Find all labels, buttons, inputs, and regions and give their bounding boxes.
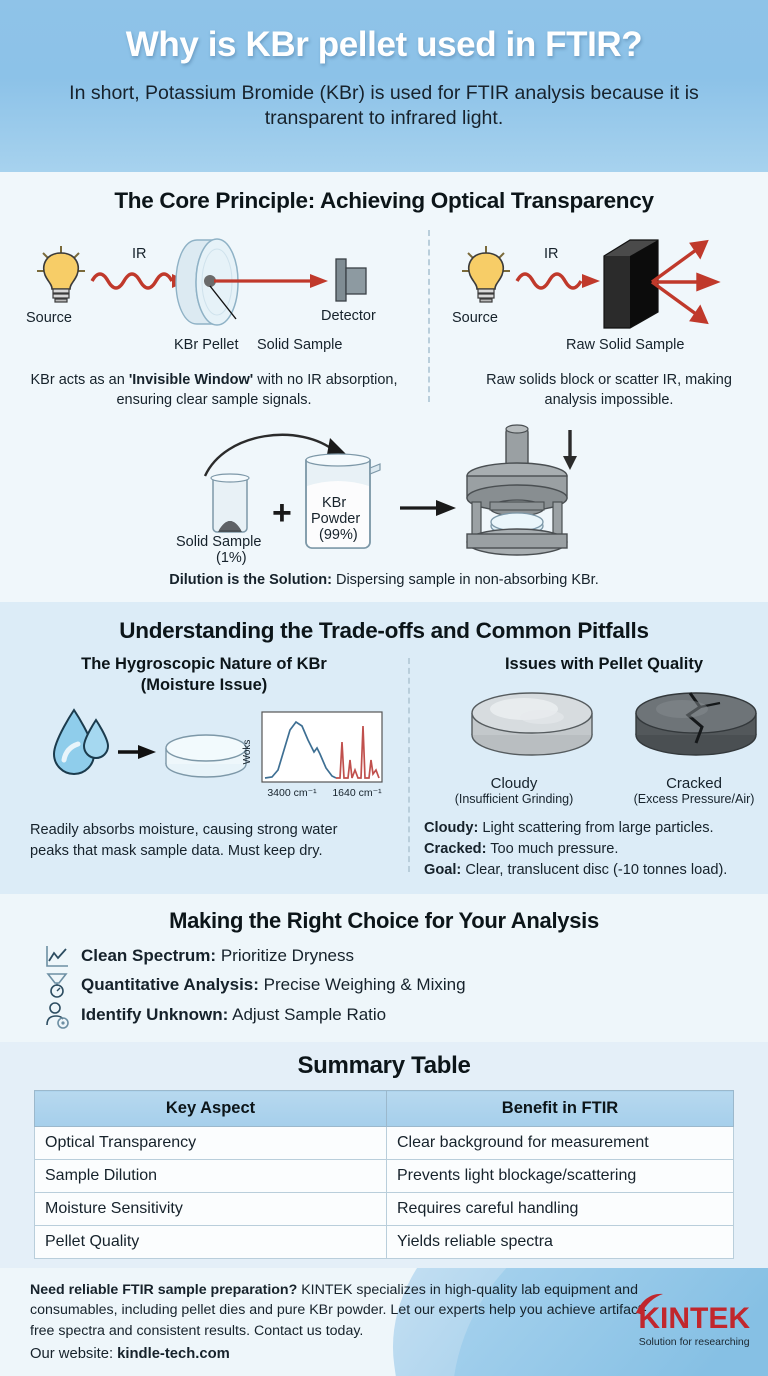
kbr-pellet-diagram-column: Source IR Detector KBr Pellet Solid Samp… [0,226,428,410]
page-title: Why is KBr pellet used in FTIR? [30,26,738,65]
footer-website-url[interactable]: kindle-tech.com [117,1346,230,1362]
tradeoffs-title: Understanding the Trade-offs and Common … [0,618,768,644]
infographic-page: Why is KBr pellet used in FTIR? In short… [0,0,768,1376]
beam-arrow-right [310,274,328,288]
cracked-pellet-icon [636,693,756,755]
plus-symbol: + [272,494,292,532]
footer-website-label: Our website: [30,1346,117,1362]
header-subtitle: In short, Potassium Bromide (KBr) is use… [30,81,738,132]
source-label-left: Source [26,310,72,326]
caption-pre: KBr acts as an [31,372,129,388]
moisture-svg: Woks 3400 cm⁻¹ 1640 cm⁻¹ [14,702,394,802]
table-row: Moisture Sensitivity Requires careful ha… [35,1193,734,1226]
choice-text-clean-spectrum: Clean Spectrum: Prioritize Dryness [81,946,354,966]
table-row: Optical Transparency Clear background fo… [35,1127,734,1160]
core-principle-title: The Core Principle: Achieving Optical Tr… [0,188,768,214]
moisture-subtitle: The Hygroscopic Nature of KBr (Moisture … [14,654,394,696]
logo-swoosh-icon [634,1293,664,1315]
choice-rest-2: Precise Weighing & Mixing [259,975,466,994]
cloudy-sublabel: (Insufficient Grinding) [424,792,604,806]
right-choice-title: Making the Right Choice for Your Analysi… [0,908,768,934]
source-label-right: Source [452,310,498,326]
pellet-quality-labels: Cloudy (Insufficient Grinding) Cracked (… [424,775,768,806]
footer-banner: Need reliable FTIR sample preparation? K… [0,1268,768,1376]
choice-text-quantitative: Quantitative Analysis: Precise Weighing … [81,975,466,995]
choice-bold-3: Identify Unknown: [81,1005,228,1024]
raw-solid-caption: Raw solids block or scatter IR, making a… [444,371,768,410]
ir-label-left: IR [132,246,147,262]
summary-table-section: Summary Table Key Aspect Benefit in FTIR… [0,1042,768,1273]
table-header-benefit: Benefit in FTIR [387,1091,734,1127]
table-header-key-aspect: Key Aspect [35,1091,387,1127]
cracked-label: Cracked [604,775,768,792]
table-cell-benefit: Requires careful handling [387,1193,734,1226]
summary-table-title: Summary Table [0,1052,768,1080]
logo-tagline: Solution for researching [638,1336,750,1348]
table-row: Pellet Quality Yields reliable spectra [35,1226,734,1259]
raw-solid-diagram: Source IR [444,226,768,341]
scale-balance-icon [44,971,70,999]
summary-table: Key Aspect Benefit in FTIR Optical Trans… [34,1090,734,1259]
moisture-pellet-disc [166,735,246,777]
ir-wave-left [92,274,172,288]
solid-sample-beaker-label: Solid Sample [176,534,261,550]
scatter-arrows [652,242,716,322]
cloudy-pellet-icon [472,693,592,755]
chart-tick-1640: 1640 cm⁻¹ [332,787,382,799]
note-cloudy: Cloudy: Light scattering from large part… [424,818,768,839]
water-peaks-chart: Woks 3400 cm⁻¹ 1640 cm⁻¹ [242,712,382,799]
pellet-quality-illustration [424,681,768,773]
note-cracked-bold: Cracked: [424,841,486,857]
tradeoffs-columns: The Hygroscopic Nature of KBr (Moisture … [0,654,768,880]
cloudy-label: Cloudy [424,775,604,792]
table-cell-benefit: Clear background for measurement [387,1127,734,1160]
ir-arrow-right [582,274,600,288]
table-cell-aspect: Pellet Quality [35,1226,387,1259]
line-chart-icon [44,943,70,969]
chart-tick-3400: 3400 cm⁻¹ [267,787,317,799]
note-goal-rest: Clear, translucent disc (-10 tonnes load… [461,862,727,878]
pellet-press-icon [467,425,577,555]
caption-bold: 'Invisible Window' [129,372,253,388]
note-cracked: Cracked: Too much pressure. [424,839,768,860]
core-principle-columns: Source IR Detector KBr Pellet Solid Samp… [0,226,768,410]
choice-rest-3: Adjust Sample Ratio [228,1005,386,1024]
footer-cta-text: Need reliable FTIR sample preparation? K… [30,1280,650,1341]
solid-sample-beaker [211,474,249,532]
dilution-caption-bold: Dilution is the Solution: [169,572,332,588]
dilution-svg: + [0,416,768,556]
choice-item-quantitative: Quantitative Analysis: Precise Weighing … [0,970,768,1000]
core-principle-section: The Core Principle: Achieving Optical Tr… [0,172,768,602]
moisture-column: The Hygroscopic Nature of KBr (Moisture … [0,654,408,880]
detector-icon [336,259,366,301]
table-cell-benefit: Yields reliable spectra [387,1226,734,1259]
moisture-subtitle-line1: The Hygroscopic Nature of KBr [14,654,394,675]
choice-rest-1: Prioritize Dryness [216,946,354,965]
raw-solid-diagram-column: Source IR Raw Solid Sample Raw solids bl… [430,226,768,410]
light-bulb-icon-right [462,246,510,302]
choice-item-identify-unknown: Identify Unknown: Adjust Sample Ratio [0,1000,768,1030]
moisture-subtitle-line2: (Moisture Issue) [14,675,394,696]
tradeoffs-section: Understanding the Trade-offs and Common … [0,602,768,894]
note-cloudy-rest: Light scattering from large particles. [478,820,713,836]
table-cell-aspect: Optical Transparency [35,1127,387,1160]
ir-label-right: IR [544,246,559,262]
table-row: Sample Dilution Prevents light blockage/… [35,1160,734,1193]
dilution-caption: Dilution is the Solution: Dispersing sam… [0,572,768,588]
note-goal: Goal: Clear, translucent disc (-10 tonne… [424,860,768,881]
moisture-illustration: Woks 3400 cm⁻¹ 1640 cm⁻¹ [14,702,394,802]
cracked-sublabel: (Excess Pressure/Air) [604,792,768,806]
choice-item-clean-spectrum: Clean Spectrum: Prioritize Dryness [0,942,768,970]
dilution-caption-rest: Dispersing sample in non-absorbing KBr. [332,572,599,588]
pellet-quality-column: Issues with Pellet Quality [410,654,768,880]
ir-wave-right [517,274,581,288]
raw-solid-block [604,240,658,328]
footer-cta-bold: Need reliable FTIR sample preparation? [30,1282,297,1298]
right-choice-section: Making the Right Choice for Your Analysi… [0,894,768,1042]
note-cloudy-bold: Cloudy: [424,820,478,836]
kbr-powder-line3: (99%) [319,527,358,543]
table-cell-aspect: Moisture Sensitivity [35,1193,387,1226]
kintek-logo: KINTEK Solution for researching [638,1304,750,1348]
header-banner: Why is KBr pellet used in FTIR? In short… [0,0,768,172]
note-cracked-rest: Too much pressure. [486,841,618,857]
table-header-row: Key Aspect Benefit in FTIR [35,1091,734,1127]
moisture-body: Readily absorbs moisture, causing strong… [14,820,394,861]
kbr-pellet-label: KBr Pellet [174,337,238,353]
footer-website-line: Our website: kindle-tech.com [30,1346,230,1362]
kbr-pellet-diagram: Source IR Detector [14,226,414,341]
pellet-quality-notes: Cloudy: Light scattering from large part… [424,818,768,880]
kbr-powder-line2: Powder [311,511,360,527]
choice-text-identify-unknown: Identify Unknown: Adjust Sample Ratio [81,1005,386,1025]
raw-solid-sample-label: Raw Solid Sample [566,337,684,353]
pellet-quality-subtitle: Issues with Pellet Quality [424,654,768,675]
dilution-diagram: + [0,416,768,556]
kbr-powder-line1: KBr [322,495,346,511]
chart-ylabel: Woks [242,740,253,765]
pellet-quality-svg [424,681,768,773]
kbr-pellet-caption: KBr acts as an 'Invisible Window' with n… [14,371,414,410]
table-cell-aspect: Sample Dilution [35,1160,387,1193]
solid-sample-label: Solid Sample [257,337,342,353]
solid-sample-beaker-pct: (1%) [216,550,247,566]
water-droplet-icon [54,710,108,774]
table-cell-benefit: Prevents light blockage/scattering [387,1160,734,1193]
user-search-icon [44,1001,70,1029]
light-bulb-icon [37,246,85,302]
note-goal-bold: Goal: [424,862,461,878]
detector-label: Detector [321,308,376,324]
choice-bold-2: Quantitative Analysis: [81,975,259,994]
choice-bold-1: Clean Spectrum: [81,946,216,965]
